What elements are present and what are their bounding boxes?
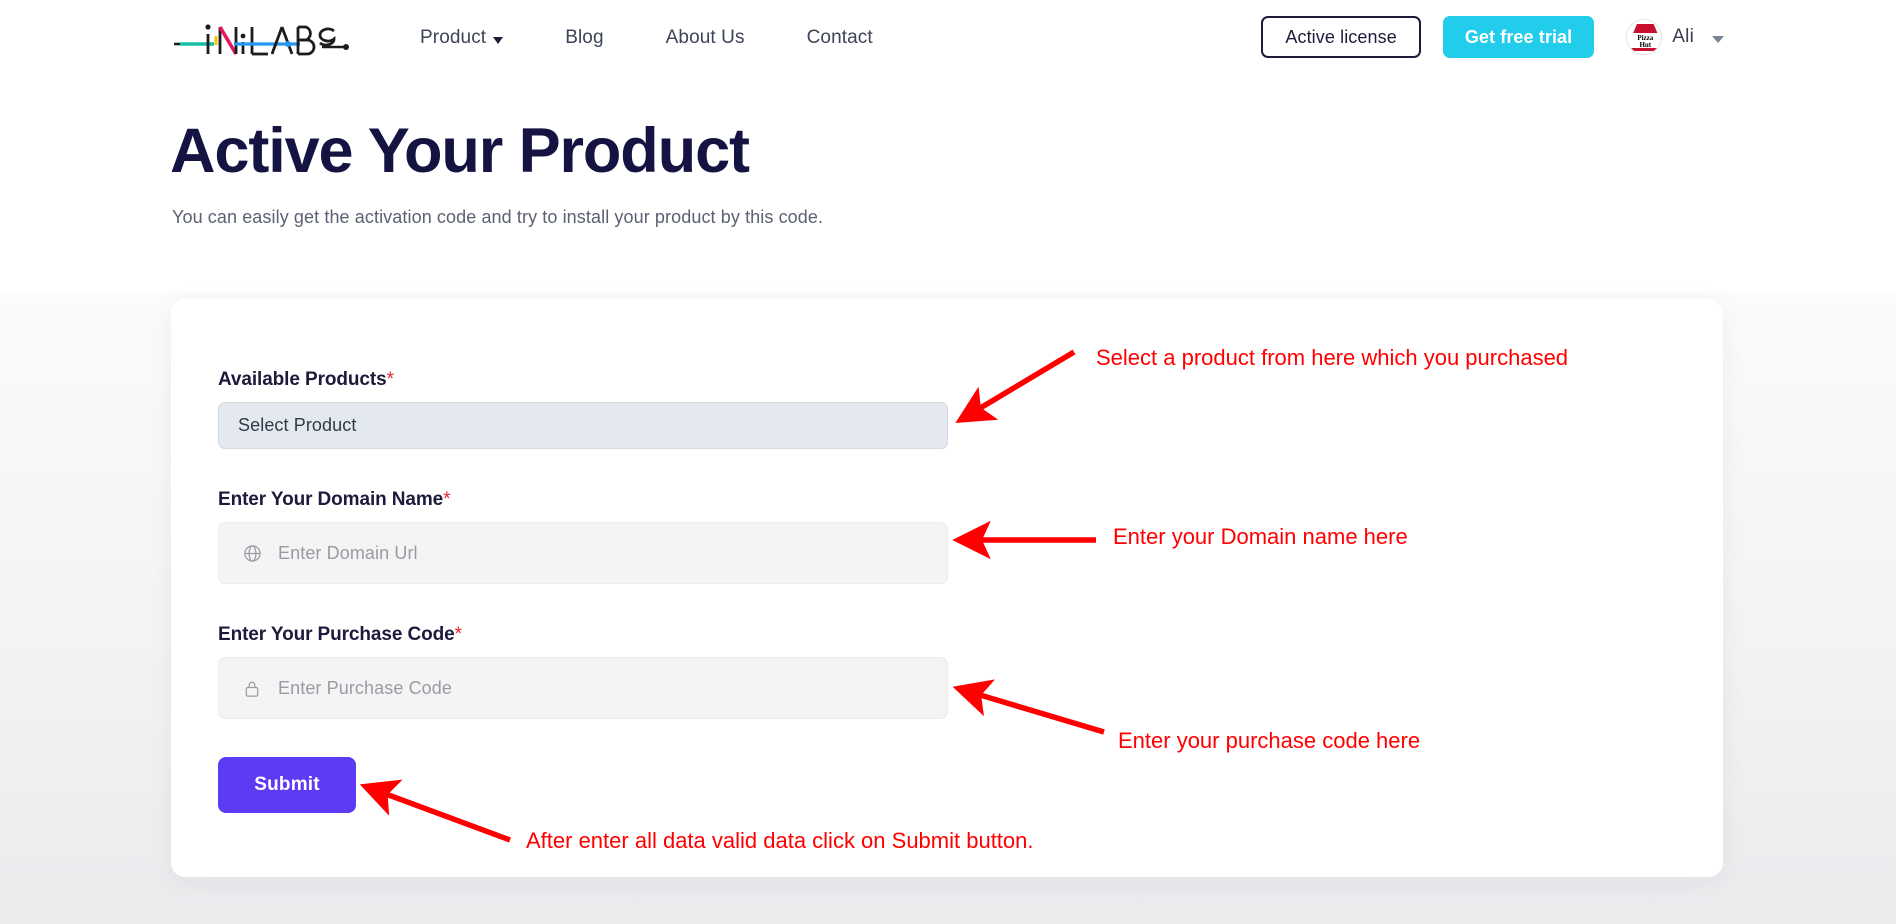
nav-item-about-us-label: About Us [666,27,745,49]
required-mark: * [455,624,462,645]
nav-item-blog[interactable]: Blog [565,21,603,55]
lock-icon [242,678,262,698]
nav-item-blog-label: Blog [565,27,603,49]
spacer [218,584,948,624]
get-free-trial-button[interactable]: Get free trial [1443,16,1594,58]
required-mark: * [387,369,394,390]
nav-item-contact-label: Contact [807,27,873,49]
header-actions: Active license Get free trial Pizza Hut … [1261,16,1724,58]
active-license-button[interactable]: Active license [1261,16,1420,58]
page-subtitle: You can easily get the activation code a… [172,207,823,228]
domain-input-wrapper[interactable]: Enter Domain Url [218,522,948,584]
domain-name-label: Enter Your Domain Name* [218,489,948,511]
available-products-label: Available Products* [218,369,948,391]
domain-name-label-text: Enter Your Domain Name [218,489,443,510]
main-navigation: Product Blog About Us Contact [420,21,873,55]
purchase-code-label-text: Enter Your Purchase Code [218,624,455,645]
spacer [218,449,948,489]
product-select-value: Select Product [238,415,356,436]
avatar: Pizza Hut [1626,19,1662,55]
purchase-code-input-wrapper[interactable]: Enter Purchase Code [218,657,948,719]
site-header: Product Blog About Us Contact Active lic… [0,0,1896,82]
chevron-down-icon[interactable] [1712,36,1724,43]
submit-row: Submit [218,757,948,813]
page-title: Active Your Product [170,120,749,183]
activation-card: Available Products* Select Product Enter… [171,299,1723,877]
nav-item-about-us[interactable]: About Us [666,21,745,55]
nav-item-product[interactable]: Product [420,21,503,55]
domain-input-placeholder: Enter Domain Url [278,543,418,564]
purchase-code-input-placeholder: Enter Purchase Code [278,678,452,699]
nav-item-contact[interactable]: Contact [807,21,873,55]
globe-icon [242,543,262,563]
required-mark: * [443,489,450,510]
inilabs-logo[interactable] [172,14,352,62]
chevron-down-icon [493,37,503,44]
nav-item-product-label: Product [420,27,486,49]
user-name-label: Ali [1672,26,1694,48]
available-products-label-text: Available Products [218,369,387,390]
user-menu[interactable]: Pizza Hut Ali [1626,19,1724,55]
avatar-base-shape [1631,48,1659,51]
product-select[interactable]: Select Product [218,402,948,449]
submit-button[interactable]: Submit [218,757,356,813]
activation-form: Available Products* Select Product Enter… [218,369,948,813]
purchase-code-label: Enter Your Purchase Code* [218,624,948,646]
